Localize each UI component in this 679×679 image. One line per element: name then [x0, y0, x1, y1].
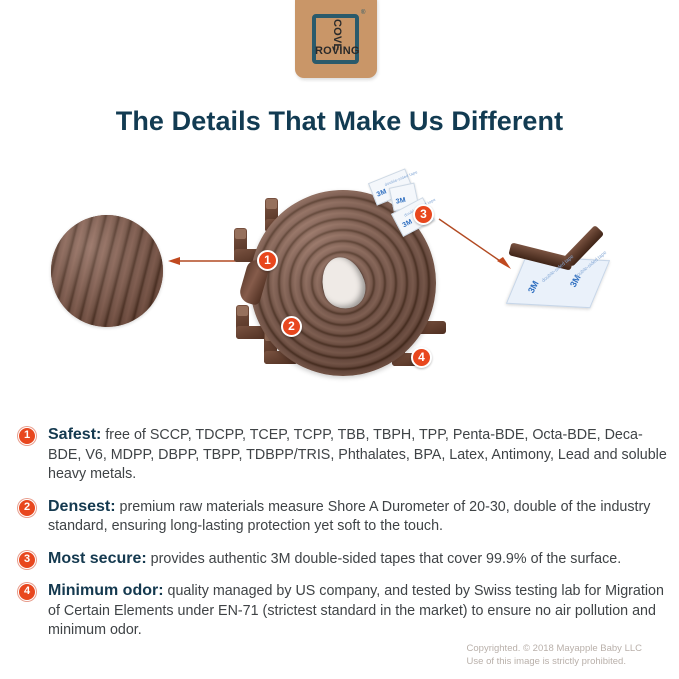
feature-text: Densest: premium raw materials measure S…: [48, 497, 668, 537]
logo-word-cove: COVE: [331, 19, 342, 51]
brand-logo: ROVING COVE ®: [295, 0, 377, 78]
feature-item: 4 Minimum odor: quality managed by US co…: [18, 581, 668, 641]
copyright-notice: Copyrighted. © 2018 Mayapple Baby LLC Us…: [467, 643, 642, 668]
callout-badge-4: 4: [411, 347, 432, 368]
feature-description: provides authentic 3M double-sided tapes…: [147, 551, 621, 567]
feature-list: 1 Safest: free of SCCP, TDCPP, TCEP, TCP…: [18, 425, 668, 653]
feature-badge-2: 2: [18, 499, 36, 517]
feature-item: 3 Most secure: provides authentic 3M dou…: [18, 549, 668, 570]
logo-trademark: ®: [361, 10, 365, 16]
feature-badge-4: 4: [18, 583, 36, 601]
callout-badge-3: 3: [413, 204, 434, 225]
product-graphic: 3M double-sided tape 3M 3M double-sided …: [0, 160, 679, 405]
callout-badge-2: 2: [281, 316, 302, 337]
foam-texture-closeup: [51, 215, 163, 327]
callout-badge-1: 1: [257, 250, 278, 271]
copyright-line-2: Use of this image is strictly prohibited…: [467, 656, 642, 669]
feature-text: Safest: free of SCCP, TDCPP, TCEP, TCPP,…: [48, 425, 668, 485]
copyright-line-1: Copyrighted. © 2018 Mayapple Baby LLC: [467, 643, 642, 656]
feature-term: Safest:: [48, 426, 101, 443]
page-title: The Details That Make Us Different: [0, 106, 679, 137]
foam-shading: [51, 215, 163, 327]
feature-description: free of SCCP, TDCPP, TCEP, TCPP, TBB, TB…: [48, 427, 667, 482]
corner-guard-with-3m-tape: 3M 3M double-sided tape double-sided tap…: [505, 248, 613, 318]
feature-item: 1 Safest: free of SCCP, TDCPP, TCEP, TCP…: [18, 425, 668, 485]
feature-description: premium raw materials measure Shore A Du…: [48, 499, 650, 535]
feature-text: Most secure: provides authentic 3M doubl…: [48, 549, 668, 570]
feature-text: Minimum odor: quality managed by US comp…: [48, 581, 668, 641]
feature-item: 2 Densest: premium raw materials measure…: [18, 497, 668, 537]
feature-term: Most secure:: [48, 550, 147, 567]
feature-term: Minimum odor:: [48, 582, 164, 599]
infographic-page: ROVING COVE ® The Details That Make Us D…: [0, 0, 679, 679]
feature-badge-3: 3: [18, 551, 36, 569]
feature-badge-1: 1: [18, 427, 36, 445]
feature-term: Densest:: [48, 498, 116, 515]
